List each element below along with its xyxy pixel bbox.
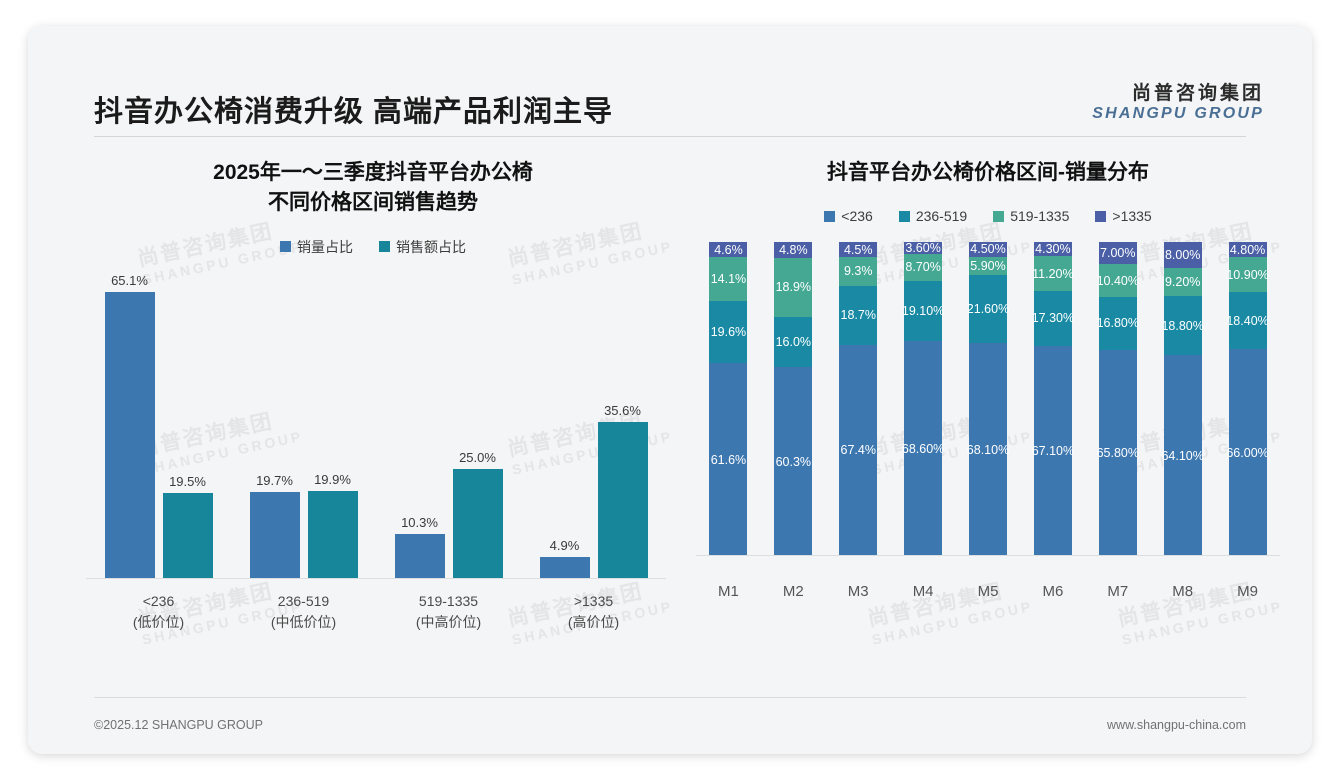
stack-segment-label: 8.00% <box>1165 248 1200 262</box>
stack-segment-label: 16.0% <box>776 335 811 349</box>
x-axis-tick: 519-1335(中高价位) <box>376 583 521 639</box>
x-axis-tick-label: M3 <box>826 583 891 600</box>
bar-column[interactable]: 65.1% <box>105 271 155 579</box>
stack-segment[interactable]: 61.6% <box>709 363 747 557</box>
bar-column[interactable]: 19.7% <box>250 271 300 579</box>
stack-segment-label: 4.80% <box>1230 243 1265 257</box>
stack-segment[interactable]: 18.9% <box>774 258 812 317</box>
stack-segment[interactable]: 17.30% <box>1034 291 1072 345</box>
stack-segment-label: 68.10% <box>967 443 1009 457</box>
stack-segment[interactable]: 5.90% <box>969 257 1007 276</box>
stack-segment-label: 67.10% <box>1032 444 1074 458</box>
legend-swatch-icon <box>824 211 835 222</box>
right-chart-panel: 抖音平台办公椅价格区间-销量分布 <236236-519519-1335>133… <box>688 144 1288 704</box>
stacked-bar[interactable]: 3.60%8.70%19.10%68.60% <box>904 242 942 556</box>
right-chart-plot: 4.6%14.1%19.6%61.6%4.8%18.9%16.0%60.3%4.… <box>688 242 1288 614</box>
bar[interactable] <box>453 469 503 579</box>
stack-segment[interactable]: 14.1% <box>709 257 747 301</box>
stack-segment-label: 14.1% <box>711 272 746 286</box>
left-chart-axis-line <box>86 578 666 579</box>
right-chart-axis-line <box>696 555 1280 556</box>
stack-segment[interactable]: 16.0% <box>774 317 812 367</box>
legend-swatch-icon <box>280 241 291 252</box>
stack-segment[interactable]: 8.70% <box>904 254 942 281</box>
bar[interactable] <box>308 491 358 579</box>
left-chart-title-line2: 不同价格区间销售趋势 <box>68 188 678 218</box>
stack-segment[interactable]: 10.90% <box>1229 257 1267 291</box>
x-axis-tick-sublabel: (低价位) <box>86 612 231 633</box>
stacked-bar-column[interactable]: 8.00%9.20%18.80%64.10% <box>1150 242 1215 556</box>
stack-segment[interactable]: 9.3% <box>839 257 877 286</box>
header-divider <box>94 136 1246 137</box>
stack-segment-label: 18.7% <box>840 308 875 322</box>
stack-segment-label: 4.6% <box>714 243 743 257</box>
logo-chinese-text: 尚普咨询集团 <box>1092 84 1264 104</box>
stack-segment[interactable]: 19.10% <box>904 281 942 341</box>
right-chart-legend: <236236-519519-1335>1335 <box>688 206 1288 226</box>
stack-segment[interactable]: 3.60% <box>904 242 942 253</box>
stacked-bar-column[interactable]: 4.80%10.90%18.40%66.00% <box>1215 242 1280 556</box>
x-axis-tick: <236(低价位) <box>86 583 231 639</box>
x-axis-tick: >1335(高价位) <box>521 583 666 639</box>
stack-segment-label: 19.10% <box>902 304 944 318</box>
legend-label: >1335 <box>1112 208 1151 224</box>
x-axis-tick-label: M5 <box>956 583 1021 600</box>
stack-segment-label: 5.90% <box>970 259 1005 273</box>
stack-segment-label: 9.3% <box>844 264 873 278</box>
x-axis-tick: 236-519(中低价位) <box>231 583 376 639</box>
stack-segment-label: 10.90% <box>1226 268 1268 282</box>
stack-segment-label: 61.6% <box>711 453 746 467</box>
legend-item-0: <236 <box>824 208 873 224</box>
stack-segment[interactable]: 18.7% <box>839 286 877 345</box>
stack-segment-label: 68.60% <box>902 442 944 456</box>
stacked-bar-column[interactable]: 4.30%11.20%17.30%67.10% <box>1020 242 1085 556</box>
x-axis-tick-label: M8 <box>1150 583 1215 600</box>
stack-segment[interactable]: 9.20% <box>1164 268 1202 297</box>
stacked-bar[interactable]: 4.30%11.20%17.30%67.10% <box>1034 242 1072 556</box>
stack-segment[interactable]: 60.3% <box>774 367 812 556</box>
bar-value-label: 35.6% <box>604 403 641 418</box>
stack-segment[interactable]: 65.80% <box>1099 350 1137 557</box>
stack-segment[interactable]: 4.50% <box>969 242 1007 256</box>
stack-segment[interactable]: 4.80% <box>1229 242 1267 257</box>
stack-segment-label: 64.10% <box>1161 449 1203 463</box>
stack-segment[interactable]: 68.60% <box>904 341 942 556</box>
stack-segment[interactable]: 19.6% <box>709 301 747 363</box>
legend-label: 236-519 <box>916 208 967 224</box>
left-chart-legend: 销量占比销售额占比 <box>68 237 678 257</box>
stacked-bar[interactable]: 4.50%5.90%21.60%68.10% <box>969 242 1007 556</box>
bar-value-label: 10.3% <box>401 515 438 530</box>
stacked-bar-column[interactable]: 3.60%8.70%19.10%68.60% <box>891 242 956 556</box>
x-axis-tick-label: <236 <box>143 593 175 609</box>
legend-item-1: 236-519 <box>899 208 967 224</box>
stack-segment-label: 67.4% <box>840 443 875 457</box>
stack-segment-label: 8.70% <box>905 260 940 274</box>
stack-segment-label: 60.3% <box>776 455 811 469</box>
stack-segment[interactable]: 4.30% <box>1034 242 1072 256</box>
stacked-bar[interactable]: 4.8%18.9%16.0%60.3% <box>774 242 812 556</box>
bar[interactable] <box>105 292 155 578</box>
x-axis-tick-label: 519-1335 <box>419 593 478 609</box>
legend-item-0: 销量占比 <box>280 237 353 257</box>
x-axis-tick-label: M7 <box>1085 583 1150 600</box>
logo-english-text: SHANGPU GROUP <box>1092 106 1264 123</box>
stack-segment[interactable]: 8.00% <box>1164 242 1202 267</box>
stack-segment[interactable]: 21.60% <box>969 275 1007 343</box>
stack-segment[interactable]: 7.00% <box>1099 242 1137 264</box>
x-axis-tick-label: >1335 <box>574 593 613 609</box>
x-axis-tick-label: M6 <box>1020 583 1085 600</box>
stacked-bar-column[interactable]: 4.50%5.90%21.60%68.10% <box>956 242 1021 556</box>
bar[interactable] <box>395 534 445 579</box>
stack-segment-label: 11.20% <box>1032 267 1073 281</box>
legend-swatch-icon <box>993 211 1004 222</box>
legend-label: 519-1335 <box>1010 208 1069 224</box>
stacked-bar-column[interactable]: 4.5%9.3%18.7%67.4% <box>826 242 891 556</box>
stacked-bar[interactable]: 4.80%10.90%18.40%66.00% <box>1229 242 1267 556</box>
footer-website: www.shangpu-china.com <box>1107 718 1246 732</box>
bar[interactable] <box>163 493 213 579</box>
stack-segment-label: 18.80% <box>1161 319 1203 333</box>
stack-segment-label: 7.00% <box>1100 246 1135 260</box>
stack-segment[interactable]: 10.40% <box>1099 264 1137 297</box>
x-axis-tick-label: M4 <box>891 583 956 600</box>
bar-column[interactable]: 25.0% <box>453 271 503 579</box>
stack-segment-label: 21.60% <box>967 302 1009 316</box>
stack-segment[interactable]: 64.10% <box>1164 355 1202 556</box>
right-chart-title: 抖音平台办公椅价格区间-销量分布 <box>688 158 1288 188</box>
bar-value-label: 4.9% <box>550 538 580 553</box>
legend-item-3: >1335 <box>1095 208 1151 224</box>
stack-segment-label: 9.20% <box>1165 275 1200 289</box>
stack-segment[interactable]: 67.10% <box>1034 346 1072 557</box>
slide-header: 抖音办公椅消费升级 高端产品利润主导 尚普咨询集团 SHANGPU GROUP <box>28 26 1312 112</box>
stack-segment-label: 4.50% <box>970 242 1005 256</box>
legend-label: 销售额占比 <box>396 237 466 257</box>
bar-group: 4.9%35.6% <box>521 271 666 579</box>
stack-segment-label: 19.6% <box>711 325 746 339</box>
stack-segment[interactable]: 18.40% <box>1229 292 1267 350</box>
bar-group: 10.3%25.0% <box>376 271 521 579</box>
stack-segment-label: 10.40% <box>1097 274 1139 288</box>
slide-footer: ©2025.12 SHANGPU GROUP www.shangpu-china… <box>94 718 1246 732</box>
stacked-bar[interactable]: 7.00%10.40%16.80%65.80% <box>1099 242 1137 556</box>
stack-segment[interactable]: 11.20% <box>1034 256 1072 291</box>
legend-label: <236 <box>841 208 873 224</box>
x-axis-tick-sublabel: (高价位) <box>521 612 666 633</box>
x-axis-tick-label: M9 <box>1215 583 1280 600</box>
left-chart-title-line1: 2025年一～三季度抖音平台办公椅 <box>68 158 678 188</box>
bar[interactable] <box>250 492 300 579</box>
bar-value-label: 65.1% <box>111 273 148 288</box>
legend-swatch-icon <box>899 211 910 222</box>
stack-segment[interactable]: 18.80% <box>1164 296 1202 355</box>
stacked-bar-column[interactable]: 4.6%14.1%19.6%61.6% <box>696 242 761 556</box>
stack-segment-label: 65.80% <box>1097 446 1139 460</box>
left-chart-plot: 65.1%19.5%19.7%19.9%10.3%25.0%4.9%35.6% … <box>68 271 678 643</box>
stack-segment-label: 4.30% <box>1035 242 1070 256</box>
stack-segment-label: 17.30% <box>1032 311 1074 325</box>
legend-item-2: 519-1335 <box>993 208 1069 224</box>
x-axis-tick-sublabel: (中高价位) <box>376 612 521 633</box>
stack-segment-label: 66.00% <box>1226 446 1268 460</box>
legend-swatch-icon <box>1095 211 1106 222</box>
stacked-bar[interactable]: 8.00%9.20%18.80%64.10% <box>1164 242 1202 556</box>
page-title: 抖音办公椅消费升级 高端产品利润主导 <box>94 88 613 130</box>
left-chart-panel: 2025年一～三季度抖音平台办公椅 不同价格区间销售趋势 销量占比销售额占比 6… <box>68 144 678 704</box>
bar[interactable] <box>540 557 590 579</box>
bar-value-label: 19.5% <box>169 474 206 489</box>
stack-segment[interactable]: 68.10% <box>969 343 1007 557</box>
stack-segment[interactable]: 4.8% <box>774 242 812 257</box>
stack-segment[interactable]: 67.4% <box>839 345 877 557</box>
bar-group: 65.1%19.5% <box>86 271 231 579</box>
stack-segment-label: 18.40% <box>1226 314 1268 328</box>
left-chart-title: 2025年一～三季度抖音平台办公椅 不同价格区间销售趋势 <box>68 158 678 219</box>
slide-page: 抖音办公椅消费升级 高端产品利润主导 尚普咨询集团 SHANGPU GROUP … <box>0 0 1340 780</box>
brand-logo: 尚普咨询集团 SHANGPU GROUP <box>1092 84 1264 123</box>
bar-column[interactable]: 10.3% <box>395 271 445 579</box>
stack-segment[interactable]: 4.6% <box>709 242 747 256</box>
legend-label: 销量占比 <box>297 237 353 257</box>
stack-segment-label: 18.9% <box>776 280 811 294</box>
stack-segment-label: 4.8% <box>779 243 808 257</box>
bar-column[interactable]: 19.5% <box>163 271 213 579</box>
stacked-bar[interactable]: 4.6%14.1%19.6%61.6% <box>709 242 747 556</box>
bar[interactable] <box>598 422 648 579</box>
stacked-bar[interactable]: 4.5%9.3%18.7%67.4% <box>839 242 877 556</box>
x-axis-tick-sublabel: (中低价位) <box>231 612 376 633</box>
stack-segment[interactable]: 4.5% <box>839 242 877 256</box>
right-chart-title-line1: 抖音平台办公椅价格区间-销量分布 <box>688 158 1288 188</box>
bar-column[interactable]: 4.9% <box>540 271 590 579</box>
bar-column[interactable]: 35.6% <box>598 271 648 579</box>
bar-group: 19.7%19.9% <box>231 271 376 579</box>
legend-item-1: 销售额占比 <box>379 237 466 257</box>
stacked-bar-column[interactable]: 4.8%18.9%16.0%60.3% <box>761 242 826 556</box>
bar-column[interactable]: 19.9% <box>308 271 358 579</box>
stack-segment-label: 4.5% <box>844 243 873 257</box>
stacked-bar-column[interactable]: 7.00%10.40%16.80%65.80% <box>1085 242 1150 556</box>
stack-segment[interactable]: 16.80% <box>1099 297 1137 350</box>
legend-swatch-icon <box>379 241 390 252</box>
stack-segment-label: 16.80% <box>1097 316 1139 330</box>
x-axis-tick-label: M2 <box>761 583 826 600</box>
x-axis-tick-label: M1 <box>696 583 761 600</box>
bar-value-label: 19.7% <box>256 473 293 488</box>
bar-value-label: 19.9% <box>314 472 351 487</box>
x-axis-tick-label: 236-519 <box>278 593 329 609</box>
bar-value-label: 25.0% <box>459 450 496 465</box>
footer-copyright: ©2025.12 SHANGPU GROUP <box>94 718 263 732</box>
slide-card: 抖音办公椅消费升级 高端产品利润主导 尚普咨询集团 SHANGPU GROUP … <box>28 26 1312 754</box>
stack-segment[interactable]: 66.00% <box>1229 349 1267 556</box>
